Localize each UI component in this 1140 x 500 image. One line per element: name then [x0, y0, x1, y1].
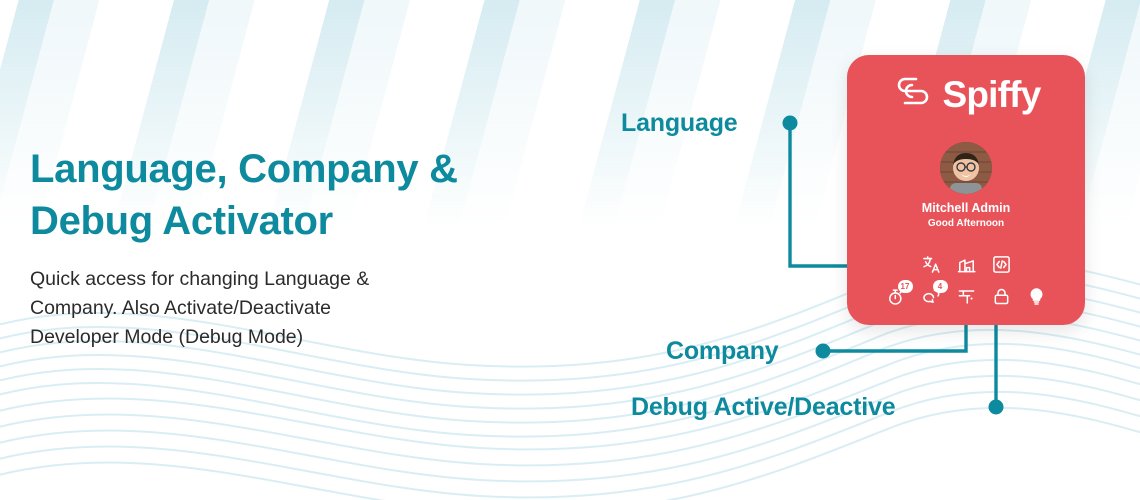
- avatar: [940, 142, 992, 194]
- callout-label-language: Language: [621, 109, 737, 138]
- banner-canvas: Language, Company & Debug Activator Quic…: [0, 0, 1140, 500]
- lock-icon[interactable]: [992, 287, 1011, 306]
- page-description-line-1: Quick access for changing Language &: [30, 265, 500, 294]
- connector-dot-debug: [989, 400, 1004, 415]
- activity-badge: 17: [898, 280, 913, 293]
- messages-chat-icon[interactable]: 4: [922, 287, 941, 306]
- spiffy-paperclip-logo-icon: [892, 72, 934, 117]
- page-title-line-1: Language, Company &: [30, 143, 550, 195]
- card-status-icons-row: 17 4: [847, 287, 1085, 306]
- spiffy-logo: Spiffy: [847, 72, 1085, 117]
- debug-code-icon[interactable]: [992, 255, 1011, 274]
- page-description: Quick access for changing Language & Com…: [30, 265, 500, 352]
- user-name: Mitchell Admin: [847, 201, 1085, 215]
- company-building-icon[interactable]: [957, 255, 976, 274]
- lightbulb-tips-icon[interactable]: [1027, 287, 1046, 306]
- translate-icon[interactable]: [922, 255, 941, 274]
- page-title-line-2: Debug Activator: [30, 195, 550, 247]
- callout-label-debug: Debug Active/Deactive: [631, 393, 895, 422]
- callout-label-company: Company: [666, 337, 779, 366]
- connector-dot-language: [783, 116, 798, 131]
- settings-sliders-icon[interactable]: [957, 287, 976, 306]
- card-quick-actions-row: [847, 255, 1085, 274]
- user-greeting: Good Afternoon: [847, 218, 1085, 229]
- page-description-line-2: Company. Also Activate/Deactivate: [30, 294, 500, 323]
- spiffy-brand-name: Spiffy: [943, 76, 1041, 113]
- connector-dot-company: [816, 344, 831, 359]
- activity-timer-icon[interactable]: 17: [887, 287, 906, 306]
- page-title: Language, Company & Debug Activator: [30, 143, 550, 247]
- page-description-line-3: Developer Mode (Debug Mode): [30, 323, 500, 352]
- messages-badge: 4: [933, 280, 948, 293]
- spiffy-user-card: Spiffy: [847, 55, 1085, 325]
